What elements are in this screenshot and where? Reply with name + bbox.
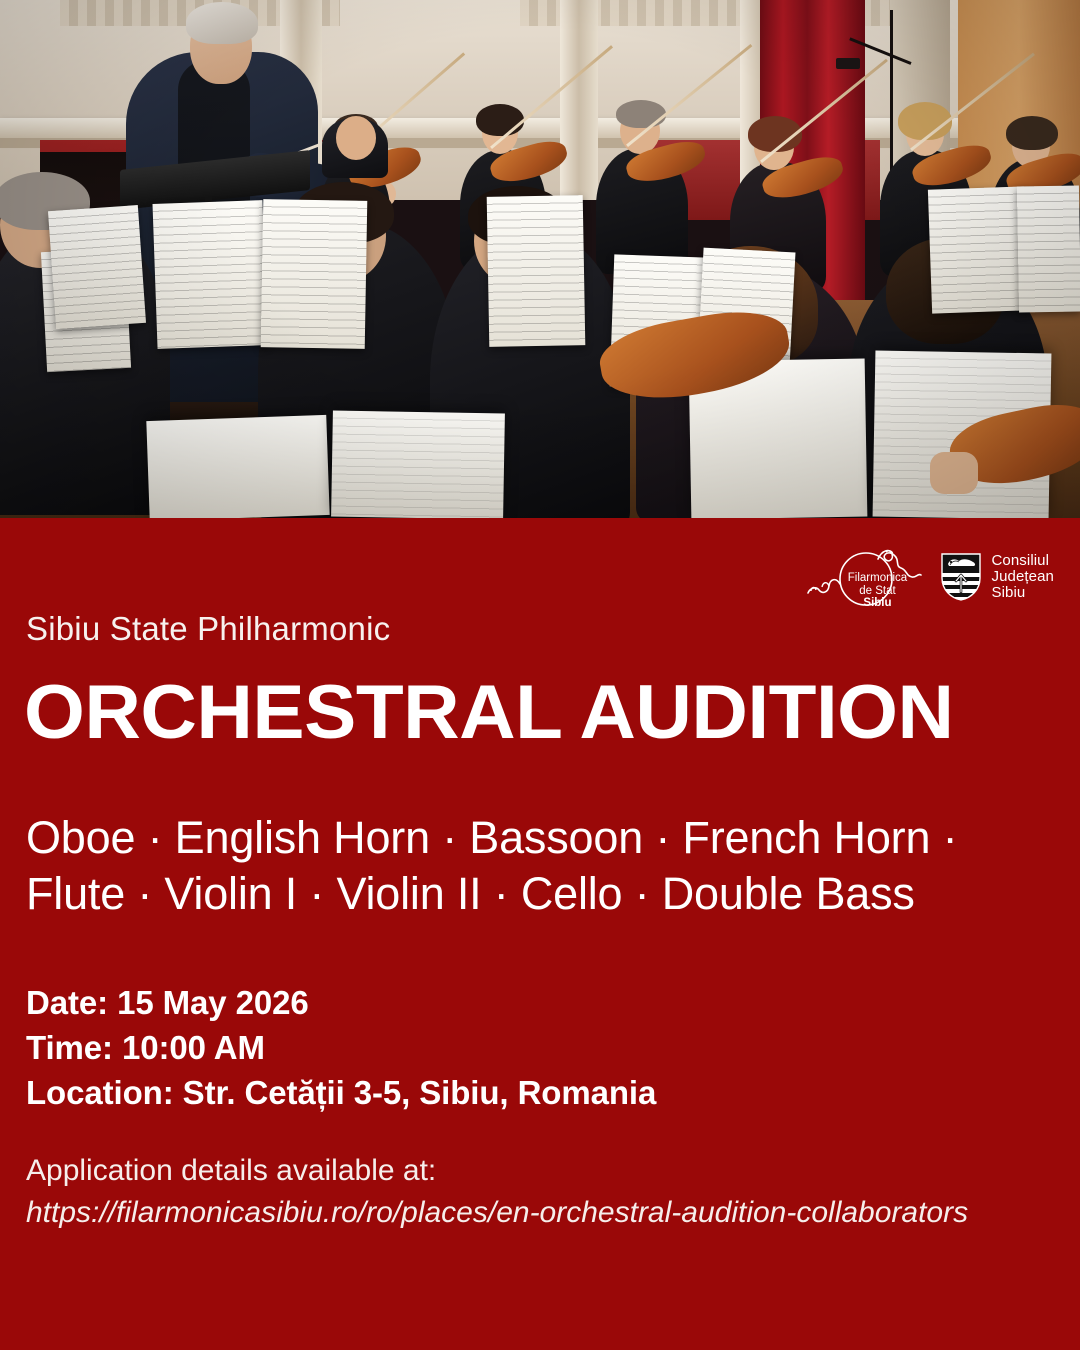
info-panel: Filarmonica de Stat Sibiu — [0, 518, 1080, 1350]
event-time: Time: 10:00 AM — [26, 1025, 656, 1070]
orchestra-photo — [0, 0, 1080, 518]
organization-name: Sibiu State Philharmonic — [26, 610, 390, 648]
logo-filarmonica-line2-bold: Sibiu — [863, 597, 891, 609]
council-line-1: Consiliul — [991, 553, 1054, 569]
instrument-list-line-2: Flute · Violin I · Violin II · Cello · D… — [26, 866, 1036, 922]
photo-vignette — [0, 0, 1080, 518]
event-location: Location: Str. Cetății 3-5, Sibiu, Roman… — [26, 1070, 656, 1115]
council-line-2: Județean — [991, 569, 1054, 585]
logo-filarmonica-line1: Filarmonica — [844, 572, 910, 584]
consiliul-judetean-sibiu-logo: Consiliul Județean Sibiu — [940, 552, 1054, 602]
event-date: Date: 15 May 2026 — [26, 980, 656, 1025]
application-url[interactable]: https://filarmonicasibiu.ro/ro/places/en… — [26, 1192, 968, 1234]
instrument-list-line-1: Oboe · English Horn · Bassoon · French H… — [26, 810, 1036, 866]
application-info: Application details available at: https:… — [26, 1150, 968, 1234]
logo-group: Filarmonica de Stat Sibiu — [802, 546, 1054, 608]
instrument-list: Oboe · English Horn · Bassoon · French H… — [26, 810, 1036, 922]
audition-poster: Filarmonica de Stat Sibiu — [0, 0, 1080, 1350]
event-details: Date: 15 May 2026 Time: 10:00 AM Locatio… — [26, 980, 656, 1115]
application-intro-text: Application details available at: — [26, 1154, 436, 1187]
page-title: ORCHESTRAL AUDITION — [24, 673, 954, 753]
filarmonica-de-stat-sibiu-logo: Filarmonica de Stat Sibiu — [802, 546, 922, 608]
council-logo-text: Consiliul Județean Sibiu — [991, 553, 1054, 601]
logo-filarmonica-line2-prefix: de Stat — [859, 585, 895, 597]
council-line-3: Sibiu — [991, 585, 1054, 601]
coat-of-arms-icon — [940, 552, 982, 602]
